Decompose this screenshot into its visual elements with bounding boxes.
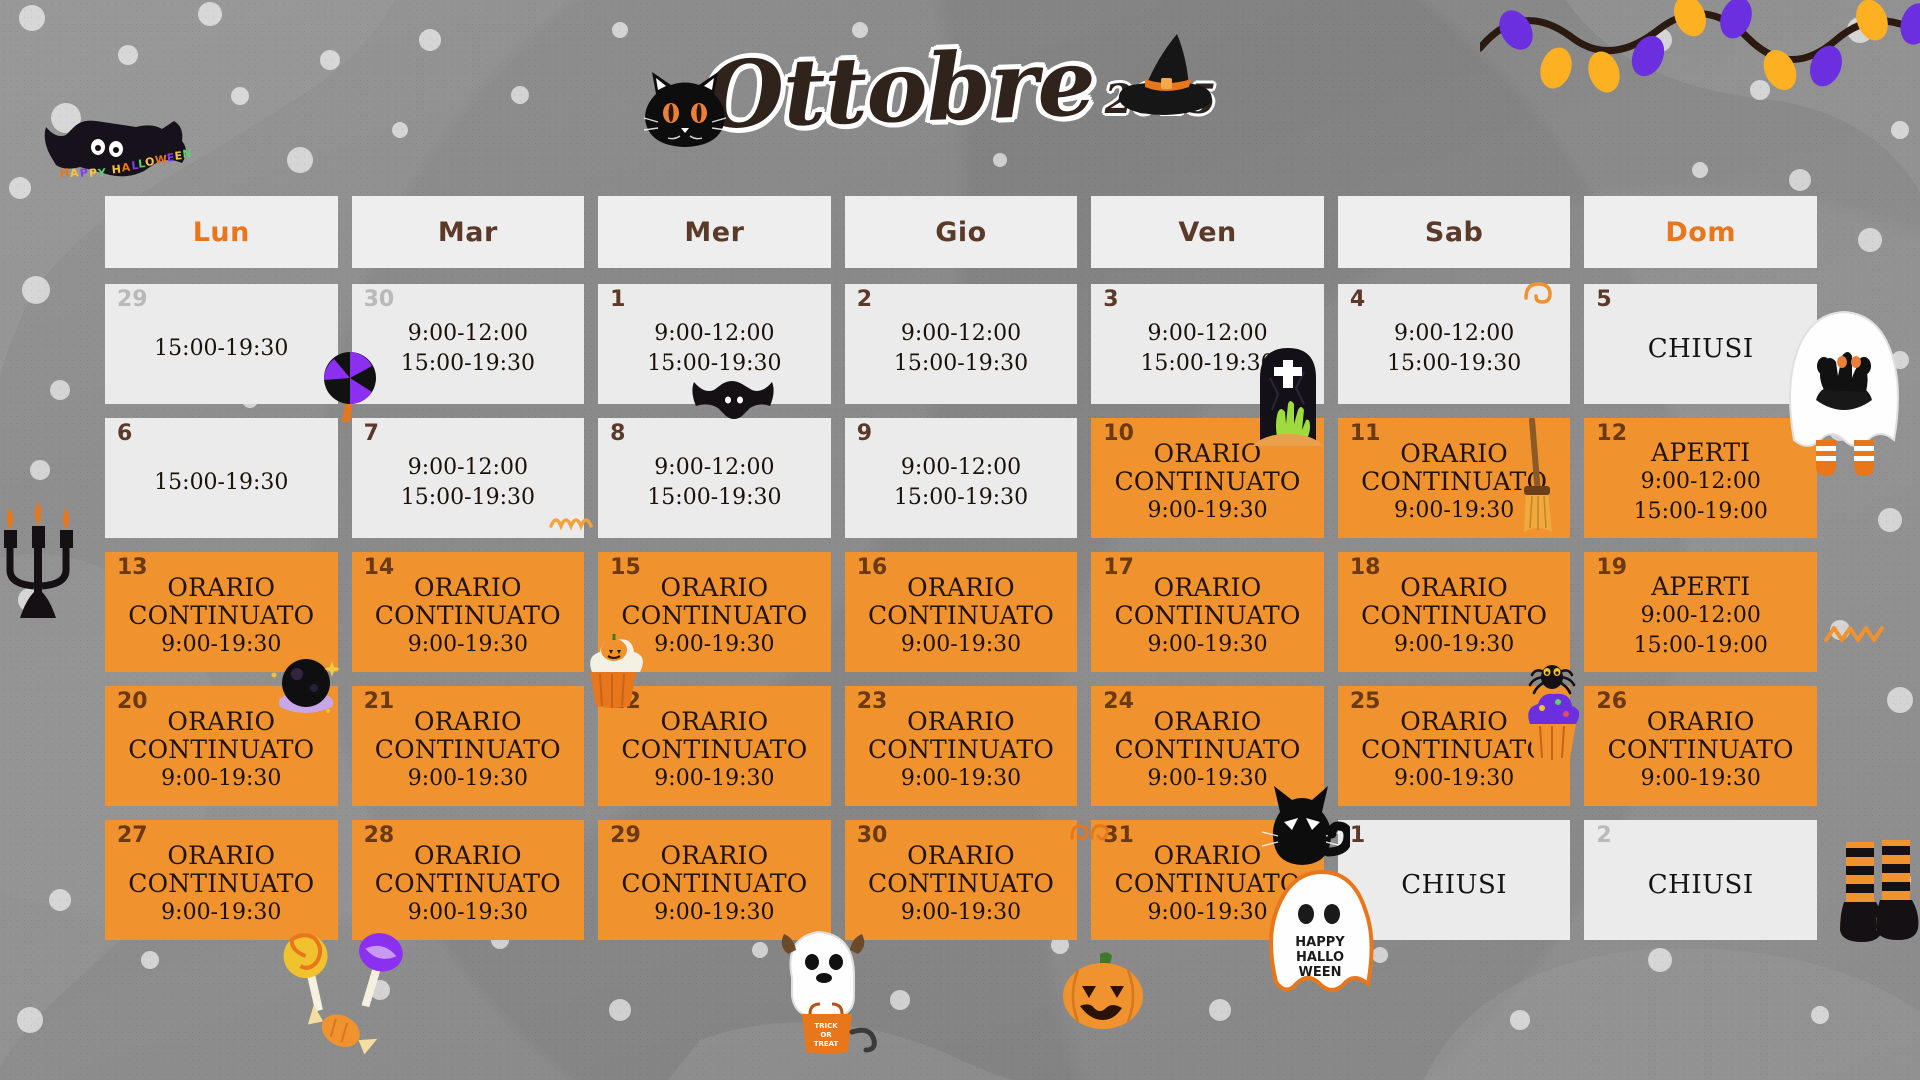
- day-cell-18[interactable]: 18ORARIO CONTINUATO9:00-19:30: [1338, 552, 1571, 672]
- weekday-label: Mer: [684, 217, 744, 248]
- day-cell-29[interactable]: 2915:00-19:30: [105, 284, 338, 404]
- day-cell-body: CHIUSI: [1592, 870, 1809, 900]
- day-number: 1: [610, 289, 625, 311]
- day-cell-body: 9:00-12:0015:00-19:30: [360, 453, 577, 512]
- day-cell-26[interactable]: 26ORARIO CONTINUATO9:00-19:30: [1584, 686, 1817, 806]
- day-cell-body: 9:00-12:0015:00-19:30: [853, 453, 1070, 512]
- day-number: 6: [117, 423, 132, 445]
- day-number: 20: [117, 691, 148, 713]
- opening-hours: 9:00-12:00: [901, 319, 1021, 349]
- status-label: ORARIO CONTINUATO: [1346, 708, 1563, 764]
- opening-hours: 9:00-12:00: [408, 453, 528, 483]
- day-number: 30: [857, 825, 888, 847]
- day-number: 9: [857, 423, 872, 445]
- calendar-week-row: 615:00-19:3079:00-12:0015:00-19:3089:00-…: [105, 418, 1817, 538]
- status-label: ORARIO CONTINUATO: [1346, 574, 1563, 630]
- day-number: 19: [1596, 557, 1627, 579]
- day-cell-body: ORARIO CONTINUATO9:00-19:30: [113, 574, 330, 660]
- opening-hours: 15:00-19:30: [154, 468, 288, 498]
- day-cell-6[interactable]: 615:00-19:30: [105, 418, 338, 538]
- day-number: 26: [1596, 691, 1627, 713]
- status-label: ORARIO CONTINUATO: [606, 842, 823, 898]
- day-cell-body: 9:00-12:0015:00-19:30: [606, 453, 823, 512]
- status-label: ORARIO CONTINUATO: [360, 842, 577, 898]
- status-label: APERTI: [1651, 573, 1750, 601]
- status-label: ORARIO CONTINUATO: [360, 574, 577, 630]
- calendar-week-row: 27ORARIO CONTINUATO9:00-19:3028ORARIO CO…: [105, 820, 1817, 940]
- day-number: 22: [610, 691, 641, 713]
- day-cell-29[interactable]: 29ORARIO CONTINUATO9:00-19:30: [598, 820, 831, 940]
- day-number: 28: [364, 825, 395, 847]
- status-label: ORARIO CONTINUATO: [1099, 842, 1316, 898]
- day-number: 8: [610, 423, 625, 445]
- day-cell-22[interactable]: 22ORARIO CONTINUATO9:00-19:30: [598, 686, 831, 806]
- day-cell-body: 9:00-12:0015:00-19:30: [853, 319, 1070, 378]
- day-number: 27: [117, 825, 148, 847]
- day-number: 13: [117, 557, 148, 579]
- calendar-week-row: 13ORARIO CONTINUATO9:00-19:3014ORARIO CO…: [105, 552, 1817, 672]
- day-cell-30[interactable]: 30ORARIO CONTINUATO9:00-19:30: [845, 820, 1078, 940]
- day-cell-body: ORARIO CONTINUATO9:00-19:30: [606, 842, 823, 928]
- day-cell-body: ORARIO CONTINUATO9:00-19:30: [360, 574, 577, 660]
- day-cell-5[interactable]: 5CHIUSI: [1584, 284, 1817, 404]
- opening-hours: 9:00-19:30: [408, 630, 528, 660]
- day-cell-10[interactable]: 10ORARIO CONTINUATO9:00-19:30: [1091, 418, 1324, 538]
- status-label: ORARIO CONTINUATO: [113, 842, 330, 898]
- day-cell-body: CHIUSI: [1592, 334, 1809, 364]
- day-number: 30: [364, 289, 395, 311]
- day-cell-body: 15:00-19:30: [113, 334, 330, 364]
- opening-hours: 15:00-19:30: [647, 483, 781, 513]
- day-number: 11: [1350, 423, 1381, 445]
- opening-hours: 9:00-19:30: [161, 630, 281, 660]
- opening-hours: 15:00-19:30: [154, 334, 288, 364]
- weekday-header-sab: Sab: [1338, 196, 1571, 268]
- status-label: ORARIO CONTINUATO: [1099, 440, 1316, 496]
- day-cell-body: ORARIO CONTINUATO9:00-19:30: [1099, 708, 1316, 794]
- opening-hours: 9:00-19:30: [1147, 630, 1267, 660]
- weekday-header-dom: Dom: [1584, 196, 1817, 268]
- day-cell-3[interactable]: 39:00-12:0015:00-19:30: [1091, 284, 1324, 404]
- status-label: ORARIO CONTINUATO: [853, 842, 1070, 898]
- status-label: ORARIO CONTINUATO: [1346, 440, 1563, 496]
- weeks-container: 2915:00-19:30309:00-12:0015:00-19:3019:0…: [105, 284, 1817, 940]
- day-number: 29: [610, 825, 641, 847]
- opening-hours: 9:00-12:00: [901, 453, 1021, 483]
- opening-hours: 9:00-19:30: [901, 764, 1021, 794]
- opening-hours: 15:00-19:30: [401, 483, 535, 513]
- status-closed: CHIUSI: [1648, 334, 1754, 364]
- weekday-label: Dom: [1665, 217, 1736, 248]
- day-cell-body: ORARIO CONTINUATO9:00-19:30: [1346, 574, 1563, 660]
- day-number: 14: [364, 557, 395, 579]
- status-closed: CHIUSI: [1648, 870, 1754, 900]
- day-cell-body: 9:00-12:0015:00-19:30: [1099, 319, 1316, 378]
- opening-hours: 9:00-19:30: [1394, 496, 1514, 526]
- day-cell-body: APERTI9:00-12:0015:00-19:00: [1592, 439, 1809, 526]
- day-cell-body: ORARIO CONTINUATO9:00-19:30: [1346, 440, 1563, 526]
- day-cell-body: ORARIO CONTINUATO9:00-19:30: [853, 574, 1070, 660]
- day-cell-23[interactable]: 23ORARIO CONTINUATO9:00-19:30: [845, 686, 1078, 806]
- day-number: 5: [1596, 289, 1611, 311]
- day-cell-body: ORARIO CONTINUATO9:00-19:30: [1099, 842, 1316, 928]
- day-number: 16: [857, 557, 888, 579]
- day-cell-12[interactable]: 12APERTI9:00-12:0015:00-19:00: [1584, 418, 1817, 538]
- day-cell-body: ORARIO CONTINUATO9:00-19:30: [1099, 440, 1316, 526]
- day-cell-28[interactable]: 28ORARIO CONTINUATO9:00-19:30: [352, 820, 585, 940]
- day-number: 21: [364, 691, 395, 713]
- opening-hours: 9:00-19:30: [654, 898, 774, 928]
- day-number: 17: [1103, 557, 1134, 579]
- weekday-label: Lun: [193, 217, 250, 248]
- day-cell-20[interactable]: 20ORARIO CONTINUATO9:00-19:30: [105, 686, 338, 806]
- day-cell-8[interactable]: 89:00-12:0015:00-19:30: [598, 418, 831, 538]
- weekday-header-row: LunMarMerGioVenSabDom: [105, 196, 1817, 268]
- day-cell-body: 9:00-12:0015:00-19:30: [606, 319, 823, 378]
- day-cell-17[interactable]: 17ORARIO CONTINUATO9:00-19:30: [1091, 552, 1324, 672]
- weekday-label: Mar: [438, 217, 498, 248]
- day-cell-body: ORARIO CONTINUATO9:00-19:30: [113, 708, 330, 794]
- weekday-label: Sab: [1425, 217, 1484, 248]
- weekday-label: Ven: [1178, 217, 1236, 248]
- weekday-header-mar: Mar: [352, 196, 585, 268]
- opening-hours: 9:00-12:00: [1641, 467, 1761, 497]
- status-label: ORARIO CONTINUATO: [1099, 708, 1316, 764]
- day-cell-body: ORARIO CONTINUATO9:00-19:30: [606, 574, 823, 660]
- weekday-header-gio: Gio: [845, 196, 1078, 268]
- day-number: 23: [857, 691, 888, 713]
- weekday-header-ven: Ven: [1091, 196, 1324, 268]
- opening-hours: 15:00-19:30: [1387, 349, 1521, 379]
- day-cell-13[interactable]: 13ORARIO CONTINUATO9:00-19:30: [105, 552, 338, 672]
- opening-hours: 9:00-19:30: [161, 764, 281, 794]
- day-cell-body: ORARIO CONTINUATO9:00-19:30: [360, 708, 577, 794]
- status-label: APERTI: [1651, 439, 1750, 467]
- calendar-week-row: 2915:00-19:30309:00-12:0015:00-19:3019:0…: [105, 284, 1817, 404]
- opening-hours: 9:00-19:30: [408, 898, 528, 928]
- opening-hours: 9:00-19:30: [1394, 630, 1514, 660]
- day-cell-14[interactable]: 14ORARIO CONTINUATO9:00-19:30: [352, 552, 585, 672]
- status-label: ORARIO CONTINUATO: [113, 574, 330, 630]
- day-number: 2: [857, 289, 872, 311]
- day-number: 24: [1103, 691, 1134, 713]
- opening-hours: 9:00-19:30: [408, 764, 528, 794]
- day-cell-body: CHIUSI: [1346, 870, 1563, 900]
- day-number: 12: [1596, 423, 1627, 445]
- opening-hours: 9:00-19:30: [1641, 764, 1761, 794]
- opening-hours: 9:00-19:30: [654, 630, 774, 660]
- day-cell-body: ORARIO CONTINUATO9:00-19:30: [1346, 708, 1563, 794]
- weekday-label: Gio: [935, 217, 986, 248]
- day-cell-body: ORARIO CONTINUATO9:00-19:30: [1592, 708, 1809, 794]
- opening-hours: 9:00-12:00: [654, 319, 774, 349]
- day-cell-30[interactable]: 309:00-12:0015:00-19:30: [352, 284, 585, 404]
- status-label: ORARIO CONTINUATO: [360, 708, 577, 764]
- day-cell-body: APERTI9:00-12:0015:00-19:00: [1592, 573, 1809, 660]
- day-cell-body: ORARIO CONTINUATO9:00-19:30: [853, 842, 1070, 928]
- day-cell-body: 9:00-12:0015:00-19:30: [1346, 319, 1563, 378]
- day-cell-4[interactable]: 49:00-12:0015:00-19:30: [1338, 284, 1571, 404]
- opening-hours: 9:00-19:30: [901, 630, 1021, 660]
- status-label: ORARIO CONTINUATO: [853, 708, 1070, 764]
- day-cell-7[interactable]: 79:00-12:0015:00-19:30: [352, 418, 585, 538]
- day-number: 29: [117, 289, 148, 311]
- status-label: ORARIO CONTINUATO: [853, 574, 1070, 630]
- day-cell-11[interactable]: 11ORARIO CONTINUATO9:00-19:30: [1338, 418, 1571, 538]
- opening-hours: 15:00-19:30: [1140, 349, 1274, 379]
- day-cell-body: 15:00-19:30: [113, 468, 330, 498]
- day-number: 3: [1103, 289, 1118, 311]
- day-cell-body: ORARIO CONTINUATO9:00-19:30: [360, 842, 577, 928]
- opening-hours: 9:00-19:30: [1394, 764, 1514, 794]
- opening-hours: 15:00-19:00: [1634, 631, 1768, 661]
- opening-hours: 9:00-12:00: [1641, 601, 1761, 631]
- status-label: ORARIO CONTINUATO: [606, 574, 823, 630]
- day-cell-2[interactable]: 29:00-12:0015:00-19:30: [845, 284, 1078, 404]
- weekday-header-lun: Lun: [105, 196, 338, 268]
- day-number: 7: [364, 423, 379, 445]
- day-number: 25: [1350, 691, 1381, 713]
- opening-hours: 15:00-19:30: [894, 349, 1028, 379]
- calendar-week-row: 20ORARIO CONTINUATO9:00-19:3021ORARIO CO…: [105, 686, 1817, 806]
- day-cell-27[interactable]: 27ORARIO CONTINUATO9:00-19:30: [105, 820, 338, 940]
- day-cell-body: 9:00-12:0015:00-19:30: [360, 319, 577, 378]
- status-closed: CHIUSI: [1401, 870, 1507, 900]
- opening-hours: 9:00-19:30: [654, 764, 774, 794]
- opening-hours: 15:00-19:00: [1634, 497, 1768, 527]
- day-cell-25[interactable]: 25ORARIO CONTINUATO9:00-19:30: [1338, 686, 1571, 806]
- status-label: ORARIO CONTINUATO: [1099, 574, 1316, 630]
- opening-hours: 9:00-12:00: [1147, 319, 1267, 349]
- day-cell-19[interactable]: 19APERTI9:00-12:0015:00-19:00: [1584, 552, 1817, 672]
- opening-hours: 9:00-19:30: [901, 898, 1021, 928]
- day-cell-body: ORARIO CONTINUATO9:00-19:30: [1099, 574, 1316, 660]
- opening-hours: 9:00-19:30: [1147, 764, 1267, 794]
- day-cell-body: ORARIO CONTINUATO9:00-19:30: [606, 708, 823, 794]
- day-cell-9[interactable]: 99:00-12:0015:00-19:30: [845, 418, 1078, 538]
- day-number: 2: [1596, 825, 1611, 847]
- day-cell-body: ORARIO CONTINUATO9:00-19:30: [113, 842, 330, 928]
- day-number: 31: [1103, 825, 1134, 847]
- calendar-grid: LunMarMerGioVenSabDom 2915:00-19:30309:0…: [105, 196, 1817, 954]
- day-cell-24[interactable]: 24ORARIO CONTINUATO9:00-19:30: [1091, 686, 1324, 806]
- day-number: 18: [1350, 557, 1381, 579]
- day-cell-body: ORARIO CONTINUATO9:00-19:30: [853, 708, 1070, 794]
- opening-hours: 9:00-19:30: [1147, 898, 1267, 928]
- weekday-header-mer: Mer: [598, 196, 831, 268]
- status-label: ORARIO CONTINUATO: [1592, 708, 1809, 764]
- opening-hours: 9:00-19:30: [161, 898, 281, 928]
- day-cell-21[interactable]: 21ORARIO CONTINUATO9:00-19:30: [352, 686, 585, 806]
- day-number: 10: [1103, 423, 1134, 445]
- opening-hours: 15:00-19:30: [647, 349, 781, 379]
- day-cell-15[interactable]: 15ORARIO CONTINUATO9:00-19:30: [598, 552, 831, 672]
- opening-hours: 15:00-19:30: [894, 483, 1028, 513]
- opening-hours: 9:00-19:30: [1147, 496, 1267, 526]
- day-number: 4: [1350, 289, 1365, 311]
- opening-hours: 15:00-19:30: [401, 349, 535, 379]
- day-cell-1[interactable]: 19:00-12:0015:00-19:30: [598, 284, 831, 404]
- status-label: ORARIO CONTINUATO: [113, 708, 330, 764]
- opening-hours: 9:00-12:00: [1394, 319, 1514, 349]
- day-cell-31[interactable]: 31ORARIO CONTINUATO9:00-19:30: [1091, 820, 1324, 940]
- day-cell-2[interactable]: 2CHIUSI: [1584, 820, 1817, 940]
- opening-hours: 9:00-12:00: [408, 319, 528, 349]
- day-number: 1: [1350, 825, 1365, 847]
- day-cell-1[interactable]: 1CHIUSI: [1338, 820, 1571, 940]
- status-label: ORARIO CONTINUATO: [606, 708, 823, 764]
- day-cell-16[interactable]: 16ORARIO CONTINUATO9:00-19:30: [845, 552, 1078, 672]
- day-number: 15: [610, 557, 641, 579]
- opening-hours: 9:00-12:00: [654, 453, 774, 483]
